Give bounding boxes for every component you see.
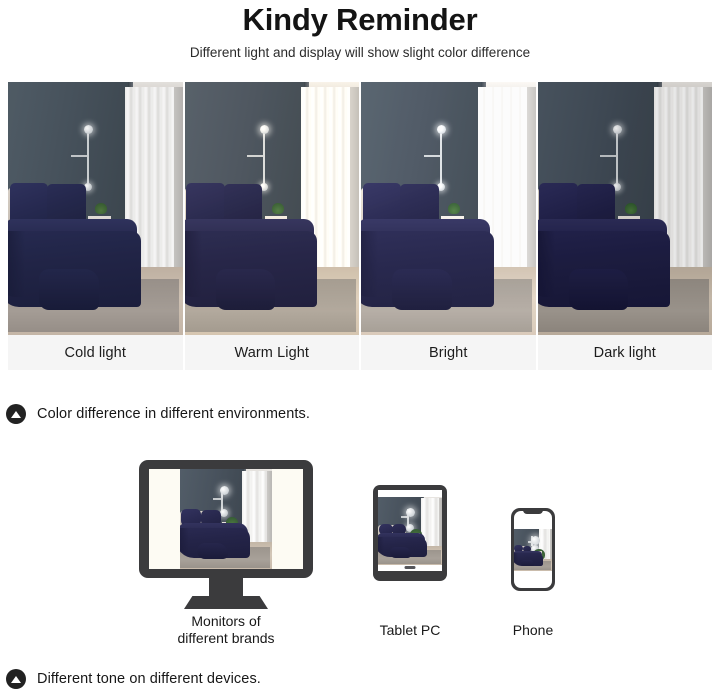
panel-label-bright: Bright [361,335,536,370]
phone-screen [514,511,552,588]
note-device-tone: Different tone on different devices. [6,669,261,689]
bedroom-photo-warm [185,82,360,335]
panel-warm-light: Warm Light [185,82,360,370]
bedroom-photo-cold [8,82,183,335]
page-title: Kindy Reminder [0,2,720,38]
monitor-bezel [139,460,313,578]
note-text-device-tone: Different tone on different devices. [37,670,261,688]
phone-caption: Phone [473,622,593,639]
phone-illustration [511,508,555,591]
monitor-stand-base [184,596,268,609]
tablet-illustration [373,485,447,581]
note-color-difference: Color difference in different environmen… [6,404,310,424]
light-comparison-grid: Cold light Warm Light [8,82,712,370]
bedroom-photo-tablet [378,497,442,565]
panel-label-warm-light: Warm Light [185,335,360,370]
panel-bright: Bright [361,82,536,370]
panel-label-cold-light: Cold light [8,335,183,370]
phone-bezel [511,508,555,591]
tablet-screen [378,490,442,571]
phone-notch-icon [523,508,543,514]
reminder-page: Kindy Reminder Different light and displ… [0,0,720,698]
monitor-caption-line1: Monitors of [139,613,313,630]
panel-cold-light: Cold light [8,82,183,370]
monitor-stand-neck [209,578,243,596]
triangle-up-circle-icon [6,669,26,689]
panel-dark-light: Dark light [538,82,713,370]
monitor-screen [149,469,303,569]
monitor-caption: Monitors of different brands [139,613,313,647]
note-text-color-difference: Color difference in different environmen… [37,405,310,423]
bedroom-photo-monitor [180,469,272,569]
tablet-bezel [373,485,447,581]
triangle-up-circle-icon [6,404,26,424]
tablet-home-button-icon [405,566,416,569]
bedroom-photo-bright [361,82,536,335]
monitor-illustration [139,460,313,609]
tablet-caption: Tablet PC [340,622,480,639]
panel-label-dark-light: Dark light [538,335,713,370]
bedroom-photo-phone [514,529,552,571]
page-subtitle: Different light and display will show sl… [0,45,720,61]
header: Kindy Reminder Different light and displ… [0,0,720,61]
monitor-caption-line2: different brands [139,630,313,647]
device-comparison-row: Monitors of different brands Tablet PC P… [0,445,720,660]
bedroom-photo-dark [538,82,713,335]
